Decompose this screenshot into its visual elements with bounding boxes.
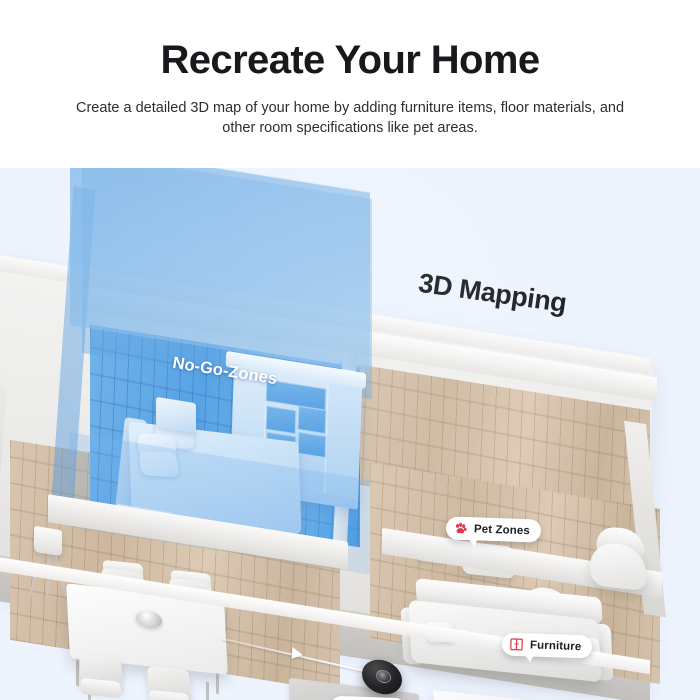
callout-label: Furniture: [530, 639, 582, 653]
shelf-compartment: [298, 432, 327, 458]
dining-chair-back: [81, 678, 122, 698]
nightstand: [156, 397, 196, 433]
shelf-compartment: [298, 406, 327, 434]
wardrobe-door-right: [324, 376, 361, 499]
floorplan: [0, 166, 700, 700]
dining-table-leg: [206, 682, 209, 700]
callout-label: Pet Zones: [474, 523, 530, 537]
cleaning-path-arrow-icon: [292, 647, 304, 661]
page-root: Recreate Your Home Create a detailed 3D …: [0, 0, 700, 700]
page-subtitle: Create a detailed 3D map of your home by…: [60, 98, 640, 138]
shelf-compartment: [266, 406, 297, 435]
cabinet-icon: [509, 637, 525, 653]
paw-icon: [453, 521, 469, 537]
dining-table-leg: [76, 660, 79, 686]
coffee-table: [433, 690, 545, 700]
callout-furniture[interactable]: Furniture: [502, 632, 593, 658]
scene-inner: 3D Mapping No-Go-Zones Pet Zones: [0, 166, 700, 700]
pillow: [139, 451, 179, 477]
home-3d-map-scene: 3D Mapping No-Go-Zones Pet Zones: [0, 166, 700, 700]
header: Recreate Your Home Create a detailed 3D …: [0, 0, 700, 168]
floor-lamp-shade: [34, 526, 62, 556]
callout-pet-zones[interactable]: Pet Zones: [446, 516, 542, 542]
page-title: Recreate Your Home: [0, 36, 700, 84]
